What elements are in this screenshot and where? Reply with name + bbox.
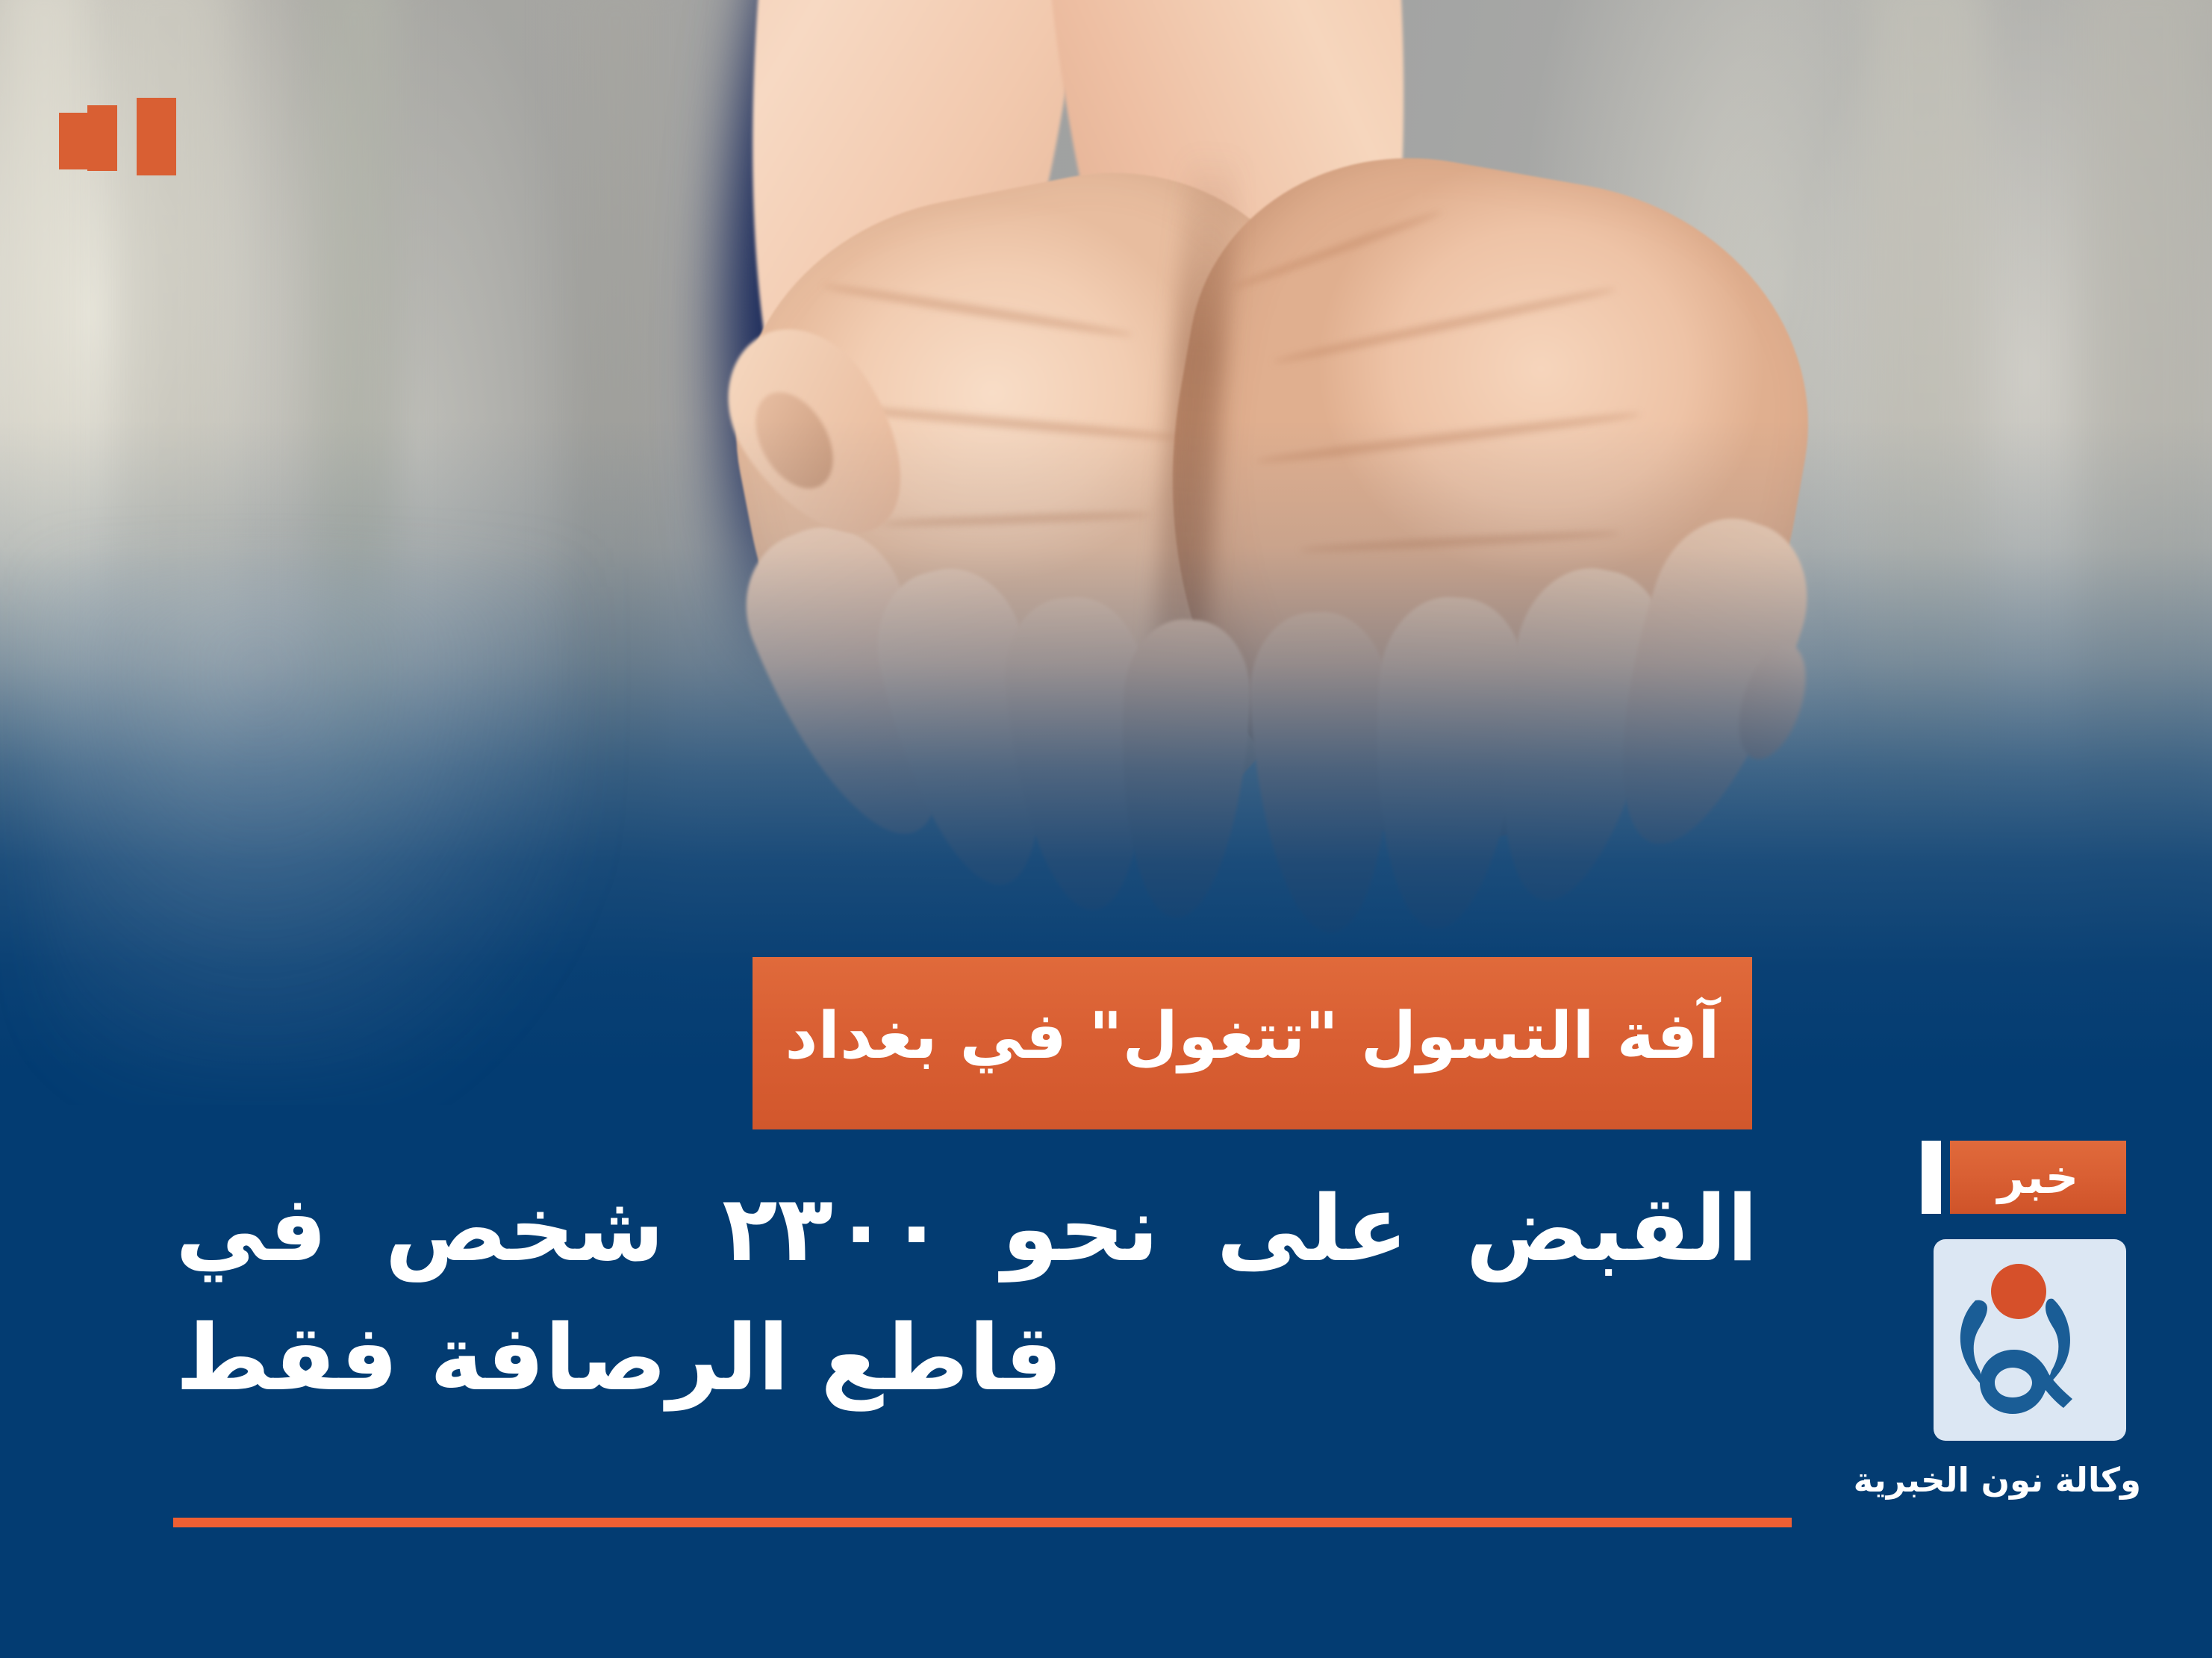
headline-line-2: قاطع الرصافة فقط [175,1294,1758,1423]
overlay-highlight [45,567,582,1090]
brand-bar-icon [87,105,117,171]
agency-logo-block: خبر وكالة نون الخبرية [1902,1141,2126,1500]
logo-head-circle [1991,1264,2046,1319]
subtitle-text: آفة التسول "تتغول" في بغداد [785,1001,1719,1072]
news-badge-label: خبر [1998,1154,2079,1200]
news-badge-white-stripe [1922,1141,1941,1214]
news-badge-gap [1941,1141,1950,1214]
brand-bar-icon [137,98,176,175]
headline-line-1: القبض على نحو ٢٣٠٠ شخص في [175,1165,1758,1294]
news-badge: خبر [1922,1141,2126,1214]
news-card: آفة التسول "تتغول" في بغداد القبض على نح… [0,0,2212,1658]
agency-name: وكالة نون الخبرية [1917,1460,2141,1500]
agency-logo-icon [1934,1239,2126,1441]
subtitle-banner: آفة التسول "تتغول" في بغداد [753,957,1752,1129]
news-badge-fill: خبر [1950,1141,2126,1214]
brand-bars-logo [46,98,196,180]
headline: القبض على نحو ٢٣٠٠ شخص في قاطع الرصافة ف… [175,1165,1758,1423]
agency-logo-tile [1934,1239,2126,1441]
brand-bar-icon [59,113,87,169]
divider-rule [173,1518,1792,1527]
